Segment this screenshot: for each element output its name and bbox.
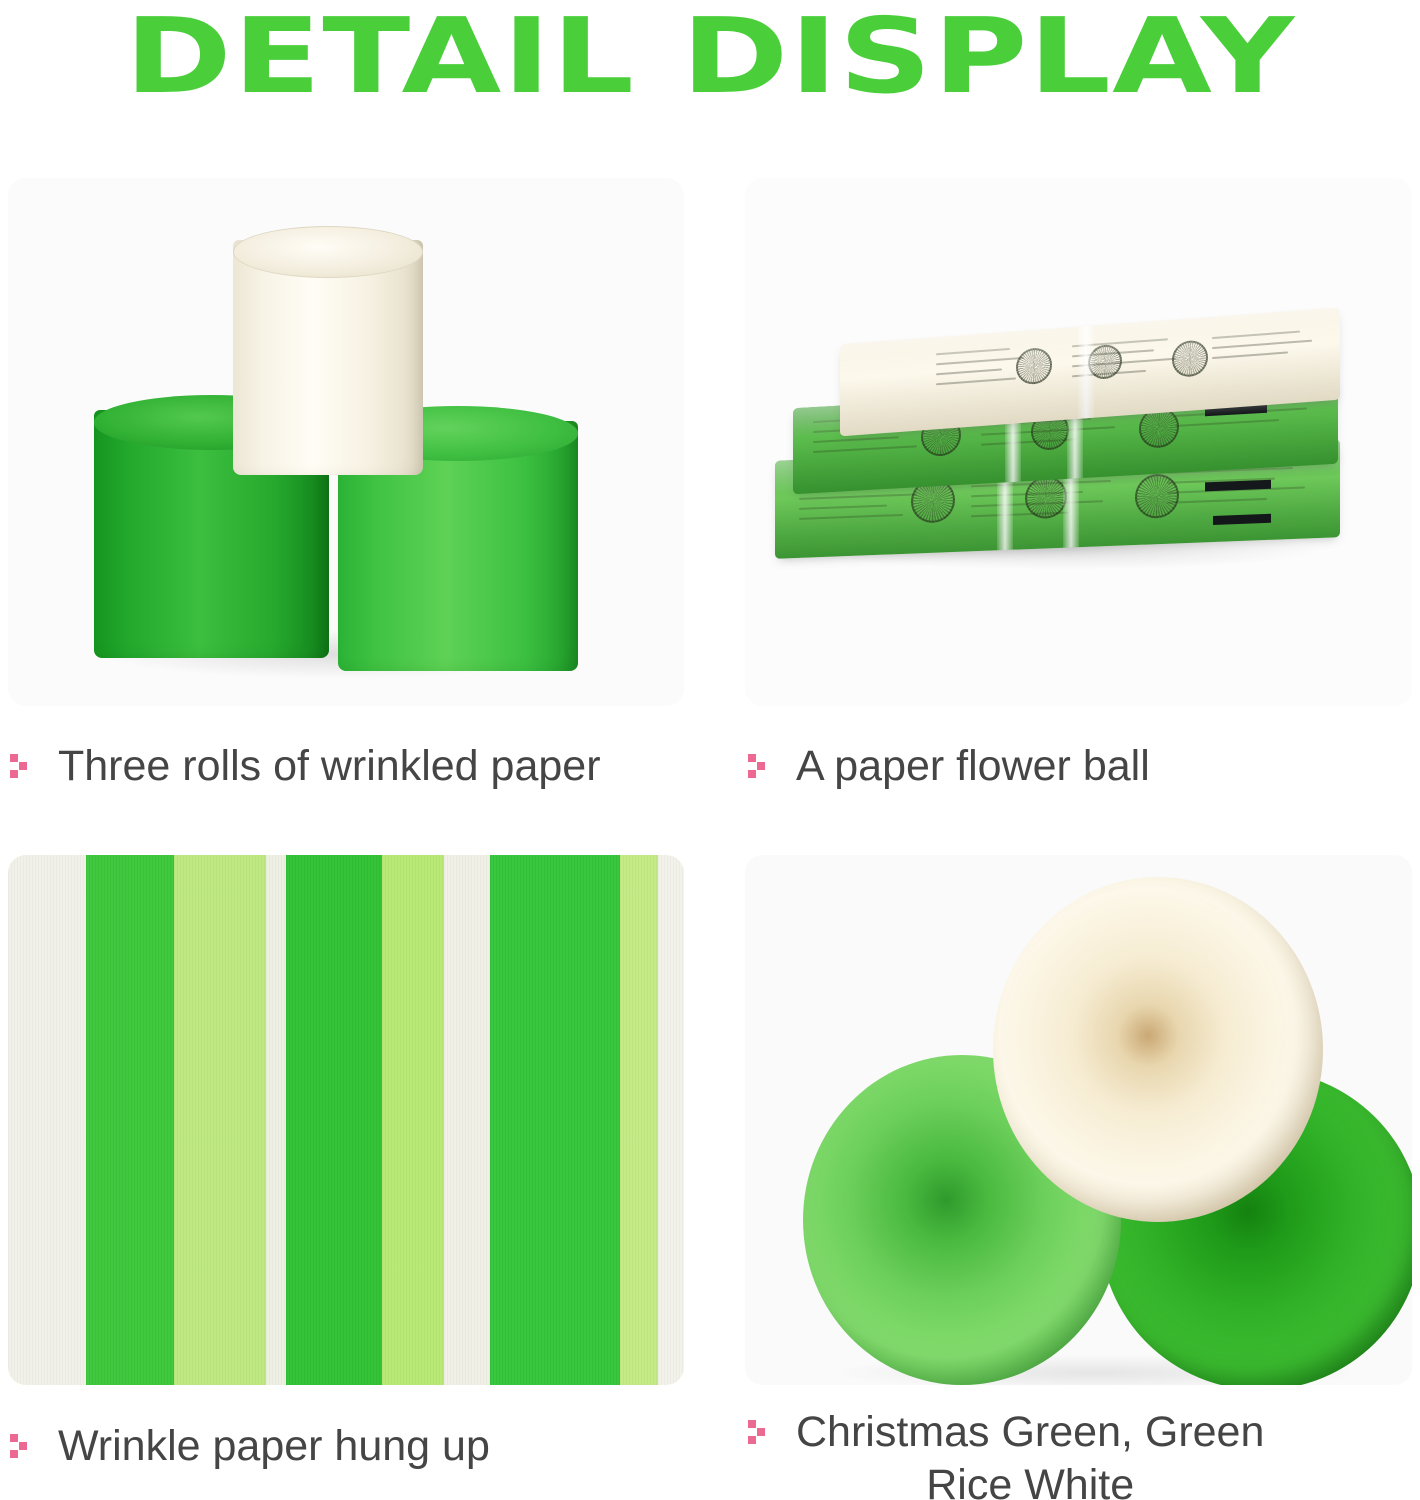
panel-paper-flower-ball xyxy=(745,178,1412,706)
caption-three-rolls: Three rolls of wrinkled paper xyxy=(10,740,686,793)
packs-scene xyxy=(745,178,1412,706)
streamer-strip-1 xyxy=(86,855,174,1385)
caption-wrinkle-paper-hung-up: Wrinkle paper hung up xyxy=(10,1420,686,1473)
poms-scene xyxy=(745,855,1412,1385)
pink-arrow-bullet-icon xyxy=(748,1420,770,1446)
streamer-strip-8 xyxy=(620,855,658,1385)
streamer-strip-5 xyxy=(382,855,444,1385)
photo-wrinkle-paper-hung-up xyxy=(8,855,684,1385)
caption-text: Wrinkle paper hung up xyxy=(58,1420,490,1473)
rolls-scene xyxy=(8,178,684,706)
caption-text: Three rolls of wrinkled paper xyxy=(58,740,601,793)
streamer-strip-0 xyxy=(8,855,86,1385)
crepe-roll-ivory xyxy=(233,240,423,475)
panel-wrinkle-paper-hung-up xyxy=(8,855,684,1385)
photo-three-rolls xyxy=(8,178,684,706)
streamer-strips xyxy=(8,855,684,1385)
streamer-strip-3 xyxy=(266,855,286,1385)
detail-panels-grid: Three rolls of wrinkled paper xyxy=(0,0,1420,1500)
panel-three-rolls xyxy=(8,178,684,706)
pink-arrow-bullet-icon xyxy=(10,1434,32,1460)
caption-text: A paper flower ball xyxy=(796,740,1150,793)
caption-text: Christmas Green, Green Rice White xyxy=(796,1406,1264,1500)
panel-color-names xyxy=(745,855,1412,1385)
streamer-strip-4 xyxy=(286,855,382,1385)
pom-pom-rice-white xyxy=(993,877,1323,1222)
streamer-strip-9 xyxy=(658,855,684,1385)
pink-arrow-bullet-icon xyxy=(10,754,32,780)
caption-paper-flower-ball: A paper flower ball xyxy=(748,740,1415,793)
streamer-strip-7 xyxy=(490,855,620,1385)
pink-arrow-bullet-icon xyxy=(748,754,770,780)
detail-display-page: DETAIL DISPLAY xyxy=(0,0,1420,1500)
streamer-strip-2 xyxy=(174,855,266,1385)
caption-color-names: Christmas Green, Green Rice White xyxy=(748,1406,1415,1500)
photo-pom-poms xyxy=(745,855,1412,1385)
photo-paper-flower-ball xyxy=(745,178,1412,706)
streamer-strip-6 xyxy=(444,855,490,1385)
